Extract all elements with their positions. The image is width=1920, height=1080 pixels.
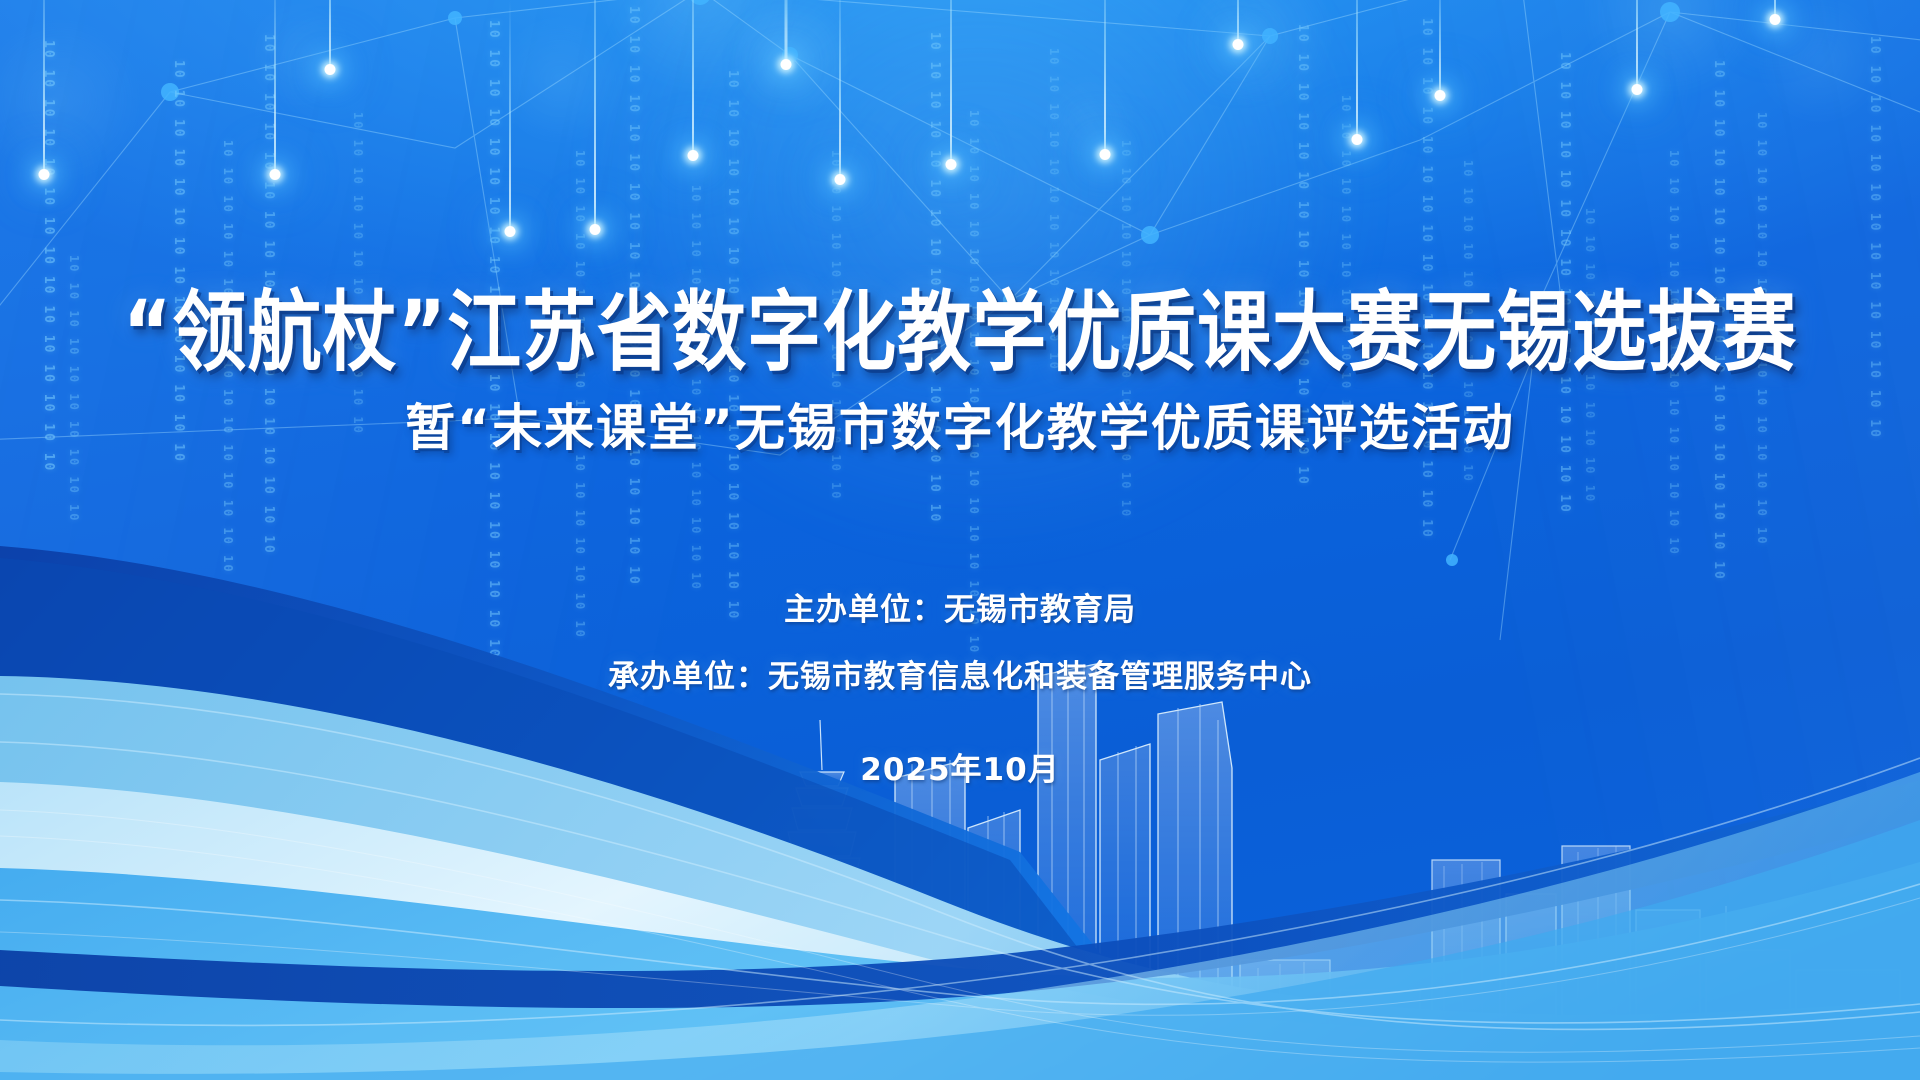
host-organization-line: 主办单位：无锡市教育局 <box>784 584 1136 629</box>
page-subtitle: 暂“未来课堂”无锡市数字化教学优质课评选活动 <box>405 401 1515 456</box>
credits-block: 主办单位：无锡市教育局 承办单位：无锡市教育信息化和装备管理服务中心 2025年… <box>608 584 1312 789</box>
organizer-organization-line: 承办单位：无锡市教育信息化和装备管理服务中心 <box>608 651 1312 696</box>
banner-content: “领航杖”江苏省数字化教学优质课大赛无锡选拔赛 暂“未来课堂”无锡市数字化教学优… <box>0 0 1920 1080</box>
event-date: 2025年10月 <box>860 744 1059 789</box>
banner-stage: 10 10 10 10 10 10 10 10 10 10 10 10 10 1… <box>0 0 1920 1080</box>
page-title: “领航杖”江苏省数字化教学优质课大赛无锡选拔赛 <box>123 288 1797 379</box>
